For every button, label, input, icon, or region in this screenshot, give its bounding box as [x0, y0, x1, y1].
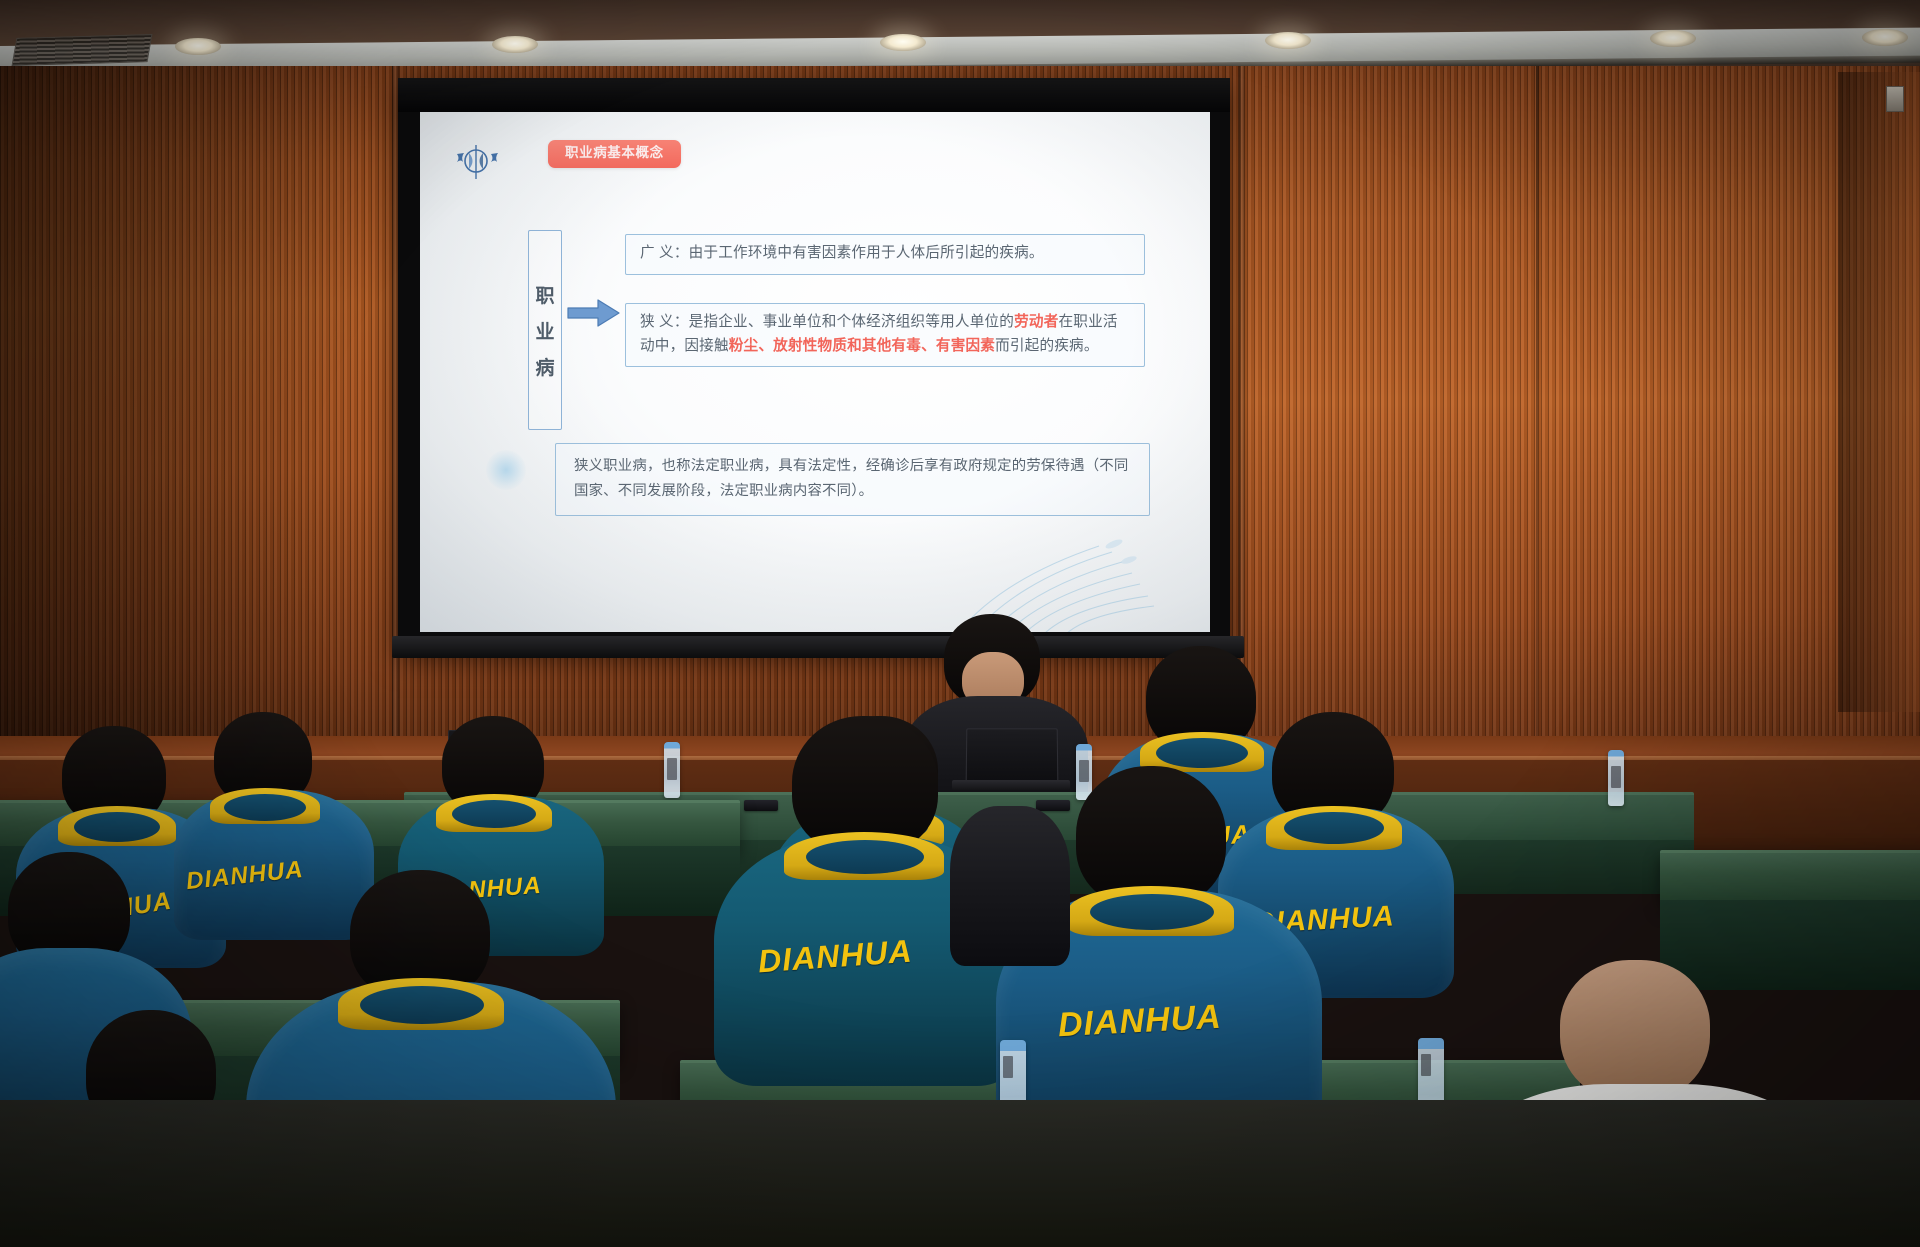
narrow-definition-line3: 而引起的疾病。 [995, 338, 1099, 354]
broad-definition-label: 广 义： [640, 245, 689, 261]
vertical-label-char: 职 [535, 281, 554, 308]
slide-title-badge: 职业病基本概念 [548, 140, 681, 168]
narrow-highlight-harmful-factors: 害因素 [951, 338, 995, 354]
water-bottle[interactable] [664, 742, 680, 798]
light-switch[interactable] [1886, 86, 1904, 112]
narrow-definition-box: 狭 义：是指企业、事业单位和个体经济组织等用人单位的劳动者在职业活动中，因接触粉… [625, 303, 1145, 367]
broad-definition-text: 由于工作环境中有害因素作用于人体后所引起的疾病。 [689, 245, 1044, 261]
recessed-downlight [1265, 32, 1311, 49]
uniform-collar-inner [360, 986, 484, 1024]
audience-member: DIANHUA [190, 712, 360, 892]
projection-screen-surface: 职业病基本概念 职 业 病 广 义：由于工作环境中有害因素作用于人体后所引起的疾… [420, 112, 1210, 632]
uniform-collar-inner [1284, 812, 1384, 844]
conference-room-photo: 职业病基本概念 职 业 病 广 义：由于工作环境中有害因素作用于人体后所引起的疾… [0, 0, 1920, 1247]
recessed-downlight [880, 34, 926, 51]
recessed-downlight [1650, 30, 1696, 47]
vertical-label-char: 业 [535, 317, 554, 344]
slide-decoration-dot [486, 450, 526, 490]
narrow-highlight-laodong: 劳动 [1014, 314, 1044, 330]
recessed-downlight [175, 38, 221, 55]
narrow-definition-line1: 是指企业、事业单位和个体经济组织等用人单位的 [689, 314, 1014, 330]
right-arrow-icon [567, 298, 621, 328]
narrow-highlight-hazards: 粉尘、放射性物质和其他有毒、有 [729, 338, 951, 354]
uniform-collar-inner [74, 812, 160, 842]
uniform-collar-inner [1090, 894, 1214, 930]
uniform-collar-inner [806, 840, 924, 874]
uniform-collar-inner [452, 800, 536, 828]
broad-definition-box: 广 义：由于工作环境中有害因素作用于人体后所引起的疾病。 [625, 234, 1145, 275]
water-bottle[interactable] [1608, 750, 1624, 806]
wood-slat-wall-right [1240, 66, 1920, 766]
audience-desk-row-right [1660, 850, 1920, 906]
audience-member [950, 780, 1070, 950]
wall-door-panel [1838, 72, 1920, 712]
person-head-bald [1560, 960, 1710, 1102]
person-dark-jacket [950, 806, 1070, 966]
company-emblem-icon [453, 140, 499, 184]
recessed-downlight [492, 36, 538, 53]
uniform-collar-inner [224, 794, 306, 821]
slide-decoration-grass [924, 488, 1164, 632]
presentation-slide: 职业病基本概念 职 业 病 广 义：由于工作环境中有害因素作用于人体后所引起的疾… [420, 112, 1210, 632]
recessed-downlight [1862, 29, 1908, 46]
vertical-label-char: 病 [535, 353, 554, 380]
hvac-vent-icon [12, 34, 153, 66]
vertical-label-occupational-disease: 职 业 病 [528, 230, 562, 430]
projection-screen-top-rail [398, 78, 1230, 112]
floor [0, 1100, 1920, 1247]
legal-note-line1: 狭义职业病，也称法定职业病，具有法定性，经确诊后享有政府规定 [574, 458, 1012, 474]
narrow-highlight-zhe: 者 [1044, 314, 1059, 330]
wall-seam [1536, 66, 1539, 766]
narrow-definition-label: 狭 义： [640, 314, 689, 330]
